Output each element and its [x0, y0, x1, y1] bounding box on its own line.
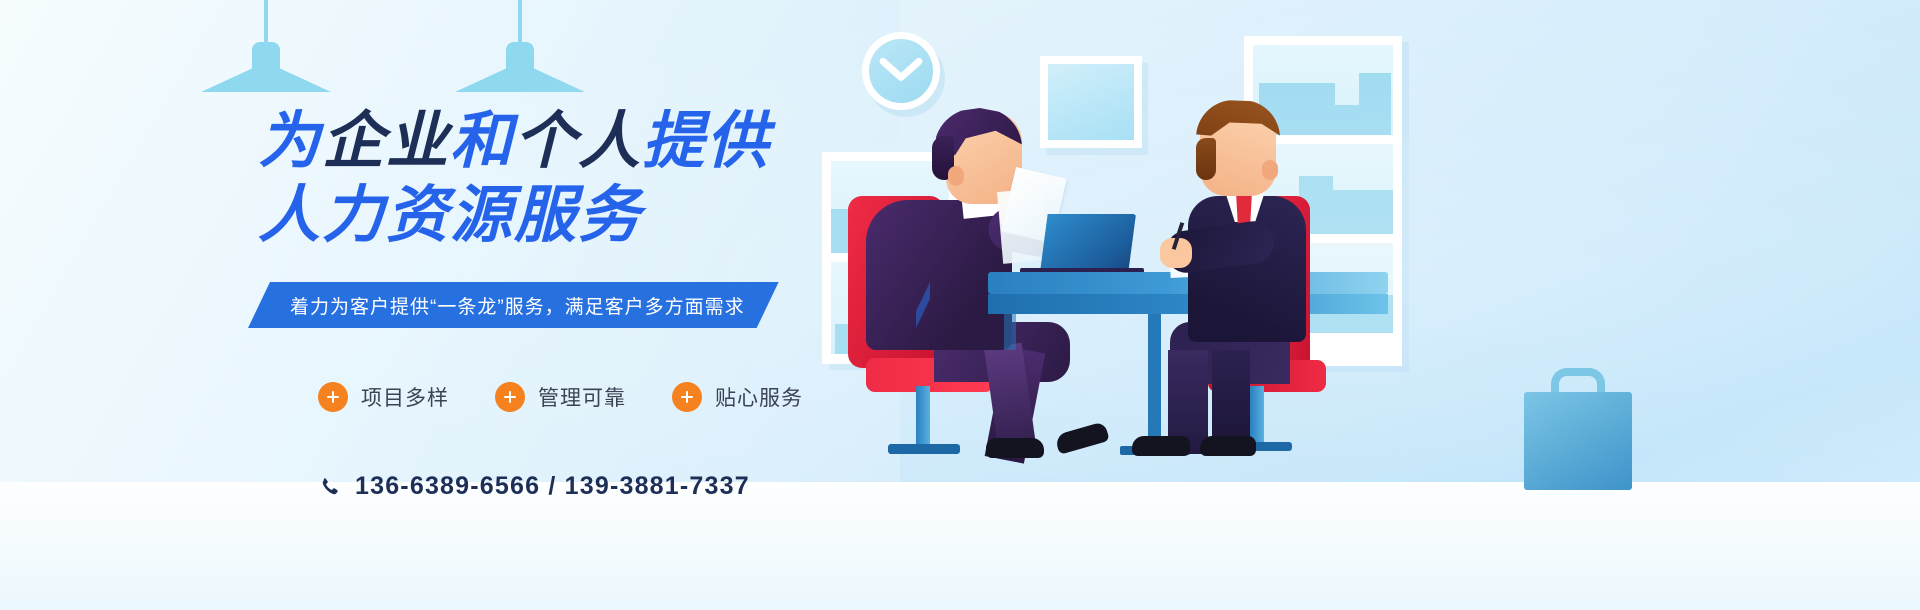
subtitle-text: 着力为客户提供“一条龙”服务，满足客户多方面需求 [290, 292, 745, 319]
subtitle-banner: 着力为客户提供“一条龙”服务，满足客户多方面需求 [248, 282, 779, 328]
person-left-shoe-front [986, 438, 1044, 458]
headline-line-1: 为企业和个人提供 [258, 107, 770, 176]
headline-seg-4: 个人 [514, 107, 642, 176]
desk-leg-left [1004, 314, 1016, 350]
feature-label-2: 管理可靠 [538, 382, 626, 412]
person-right-shoe-front [1132, 436, 1190, 456]
headline-line-2: 人力资源服务 [258, 182, 770, 250]
hero-banner: 为企业和个人提供 人力资源服务 着力为客户提供“一条龙”服务，满足客户多方面需求… [0, 0, 1920, 610]
feature-item-1[interactable]: 项目多样 [318, 382, 449, 412]
phone-number: 136-6389-6566 / 139-3881-7337 [355, 472, 750, 501]
person-right-hair-side [1196, 138, 1216, 180]
banner-content: 为企业和个人提供 人力资源服务 着力为客户提供“一条龙”服务，满足客户多方面需求… [0, 0, 900, 610]
plus-icon [672, 382, 702, 412]
briefcase [1524, 392, 1632, 490]
contact-phone[interactable]: 136-6389-6566 / 139-3881-7337 [318, 472, 750, 501]
feature-list: 项目多样 管理可靠 贴心服务 [318, 382, 803, 412]
laptop-screen [1040, 214, 1136, 272]
page-title: 为企业和个人提供 人力资源服务 [258, 108, 770, 250]
desk-leg-center [1148, 314, 1161, 450]
feature-item-3[interactable]: 贴心服务 [672, 382, 803, 412]
person-right-shoe-back [1200, 436, 1256, 456]
headline-seg-2: 企业 [322, 107, 450, 176]
headline-seg-1: 为 [258, 107, 322, 176]
office-chair-left-post [916, 386, 930, 448]
office-chair-right-post [1250, 386, 1264, 444]
feature-item-2[interactable]: 管理可靠 [495, 382, 626, 412]
person-right-shin-back [1212, 350, 1250, 450]
plus-icon [318, 382, 348, 412]
headline-seg-6: 人力资源服务 [258, 181, 642, 250]
headline-seg-5: 提供 [642, 107, 770, 176]
person-right-ear [1262, 160, 1278, 180]
paper-document-left-2 [997, 188, 1049, 264]
person-left-ear [948, 166, 964, 186]
feature-label-3: 贴心服务 [715, 382, 803, 412]
person-left-shoe-back [1054, 421, 1109, 455]
headline-seg-3: 和 [450, 107, 514, 176]
plus-icon [495, 382, 525, 412]
phone-icon [318, 476, 340, 498]
feature-label-1: 项目多样 [361, 382, 449, 412]
